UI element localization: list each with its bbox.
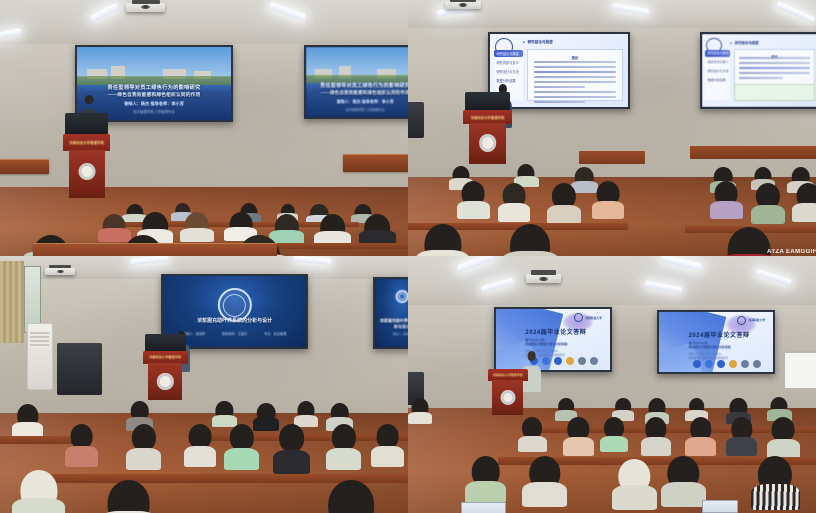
projection-screen-right: 浓浆服充助叶养系统的分析与设计 答辩人：张雨婷 bbox=[373, 277, 408, 349]
slide-campus-title-copy: 责任型领导对员工绿色行为的影响研究 ——绿色自我效能感和绿色组织认同的作用 答辩… bbox=[306, 47, 408, 117]
audience-tablet bbox=[702, 500, 739, 513]
slide-title: 2024届毕业论文答辩 bbox=[525, 327, 603, 336]
audience-member bbox=[563, 417, 594, 455]
projector bbox=[45, 268, 76, 276]
university-name: 河南科技大学 bbox=[748, 318, 765, 322]
slide-nav-selected: 研究结论与展望 bbox=[496, 51, 521, 56]
audience-member bbox=[518, 417, 547, 452]
slide-title: 责任型领导对员工绿色行为的影响研究 bbox=[90, 85, 219, 92]
audience-member bbox=[224, 424, 259, 470]
ceiling bbox=[0, 0, 408, 44]
audience-member bbox=[767, 417, 800, 458]
lecture-room: 浓浆服充助叶养系统的分析与设计 答辩人：张雨婷 指导老师：王建华 专业：信息管理… bbox=[0, 256, 408, 513]
audience-member bbox=[326, 424, 361, 470]
slide-meta: 答辩人：杨杰 指导老师：李小芳 bbox=[93, 101, 215, 107]
front-desk bbox=[33, 243, 278, 256]
slide-nav-item: 研究背景与意义 bbox=[708, 60, 729, 64]
slide-meta-major: 专业：信息管理 bbox=[264, 331, 286, 336]
audience-member-cap bbox=[612, 459, 657, 510]
slide-nav-item: 数据分析结果 bbox=[496, 78, 521, 83]
slide-body-text-lines bbox=[739, 57, 809, 82]
audience-laptop bbox=[461, 502, 506, 513]
shirt-text: ATZA EAMGGIF bbox=[767, 249, 816, 255]
slide-title: 浓浆服充助叶养系统的分析与设计 bbox=[172, 317, 298, 324]
audience-member bbox=[498, 183, 531, 222]
projector bbox=[526, 274, 561, 283]
slide-meta-secondary: 经济管理学院 工商管理专业 bbox=[93, 109, 215, 114]
window-curtain bbox=[0, 261, 24, 343]
photo-panel-top-left: 责任型领导对员工绿色行为的影响研究 ——绿色自我效能感和绿色组织认同的作用 答辩… bbox=[0, 0, 408, 256]
projection-screen-left: 责任型领导对员工绿色行为的影响研究 ——绿色自我效能感和绿色组织认同的作用 答辩… bbox=[75, 45, 232, 122]
audience-member bbox=[600, 417, 629, 452]
audience-member bbox=[522, 456, 567, 507]
audience-member bbox=[371, 424, 404, 467]
audience-member bbox=[408, 398, 432, 423]
audience-member bbox=[547, 183, 582, 225]
lecture-room: 研究结论与展望 研究结论与展望 研究背景与意义 研究设计与方法 数据分析结果 结… bbox=[408, 0, 816, 256]
audience-member bbox=[318, 480, 383, 513]
audience-member bbox=[98, 480, 159, 513]
slide-subtitle: 基于Python的 网络爬虫与数据可视化分析系统 bbox=[525, 338, 603, 346]
slide-nav-item: 研究设计与方法 bbox=[496, 69, 521, 74]
photo-panel-top-right: 研究结论与展望 研究结论与展望 研究背景与意义 研究设计与方法 数据分析结果 结… bbox=[408, 0, 816, 256]
projection-screen-right: 研究结论与展望 研究结论与展望 研究背景与意义 研究设计与方法 数据分析结果 结… bbox=[700, 32, 816, 109]
photo-panel-bottom-right: 河南科技大学 2024届毕业论文答辩 基于Python的 网络爬虫与数据可视化分… bbox=[408, 256, 816, 513]
slide-nav-item: 研究背景与意义 bbox=[496, 60, 521, 65]
presenter-laptop bbox=[465, 92, 510, 110]
audience-member bbox=[416, 224, 469, 256]
slide-meta-advisor: 指导老师：王建华 bbox=[222, 331, 248, 336]
slide-title: 2024届毕业论文答辩 bbox=[689, 330, 767, 339]
audience-member bbox=[314, 214, 351, 247]
slide-subtitle: 基于Python的 网络爬虫与数据可视化分析系统 bbox=[689, 341, 767, 349]
audience-member bbox=[661, 456, 706, 507]
slide-campus-title: 责任型领导对员工绿色行为的影响研究 ——绿色自我效能感和绿色组织认同的作用 答辩… bbox=[77, 47, 230, 120]
slide-title: 浓浆服充助叶养系统的分析与设计 bbox=[378, 318, 408, 330]
audience-member bbox=[184, 424, 217, 467]
audience-member bbox=[457, 181, 490, 218]
photo-panel-bottom-left: 浓浆服充助叶养系统的分析与设计 答辩人：张雨婷 指导老师：王建华 专业：信息管理… bbox=[0, 256, 408, 513]
audience-member bbox=[726, 417, 757, 455]
slide-subtitle: ——绿色自我效能感和绿色组织认同的作用 bbox=[90, 92, 219, 98]
university-logo: 河南科技大学 bbox=[737, 316, 765, 325]
projector bbox=[445, 1, 482, 9]
slide-meta: 答辩人：杨杰 指导老师：李小芳 bbox=[318, 99, 408, 105]
lecture-room: 责任型领导对员工绿色行为的影响研究 ——绿色自我效能感和绿色组织认同的作用 答辩… bbox=[0, 0, 408, 256]
university-logo-icon bbox=[737, 316, 746, 325]
slide-green-callout bbox=[734, 84, 816, 101]
lecture-room: 河南科技大学 2024届毕业论文答辩 基于Python的 网络爬虫与数据可视化分… bbox=[408, 256, 816, 513]
audience-member bbox=[792, 183, 816, 222]
slide-meta-presenter: 答辩人：张雨婷 bbox=[393, 332, 408, 336]
audience-member bbox=[273, 424, 310, 473]
university-logo-icon bbox=[574, 313, 583, 322]
audience-member bbox=[12, 404, 43, 437]
audience-member bbox=[751, 183, 786, 225]
audience-member bbox=[592, 181, 625, 218]
audience-member bbox=[502, 224, 559, 256]
audience-member bbox=[641, 417, 672, 455]
audience-member bbox=[710, 181, 743, 218]
audience-member bbox=[465, 456, 506, 504]
projector bbox=[126, 3, 165, 12]
audience-member-striped bbox=[751, 456, 800, 510]
projection-screen-right: 责任型领导对员工绿色行为的影响研究 ——绿色自我效能感和绿色组织认同的作用 答辩… bbox=[304, 45, 408, 119]
slide-meta: 答辩人：张雨婷 指导老师：王建华 专业：信息管理 bbox=[175, 331, 295, 336]
slide-header: 研究结论与展望 bbox=[730, 40, 758, 45]
slide-nav-item: 研究设计与方法 bbox=[708, 69, 729, 73]
slide-meta-secondary: 经济管理学院 工商管理专业 bbox=[318, 107, 408, 112]
slide-document-outline-copy: 研究结论与展望 研究结论与展望 研究背景与意义 研究设计与方法 数据分析结果 结… bbox=[702, 34, 816, 107]
audience-member bbox=[65, 424, 98, 467]
slide-body-title: 结论 bbox=[534, 55, 617, 60]
presenter-laptop bbox=[65, 113, 108, 135]
slide-meta: 答辩人：张雨婷 bbox=[380, 332, 408, 336]
audience-member bbox=[685, 417, 716, 455]
slide-body-text-lines bbox=[534, 61, 617, 106]
audience-member bbox=[180, 212, 215, 241]
audience-member bbox=[359, 214, 396, 245]
photo-collage: 责任型领导对员工绿色行为的影响研究 ——绿色自我效能感和绿色组织认同的作用 答辩… bbox=[0, 0, 816, 513]
audience-member-cap bbox=[12, 470, 65, 513]
university-logo: 河南科技大学 bbox=[574, 313, 602, 322]
slide-header: 研究结论与展望 bbox=[523, 40, 553, 45]
audience-member bbox=[126, 424, 161, 470]
slide-emblem-title-copy: 浓浆服充助叶养系统的分析与设计 答辩人：张雨婷 bbox=[375, 279, 408, 347]
slide-subtitle: ——绿色自我效能感和绿色组织认同的作用 bbox=[315, 90, 408, 96]
slide-nav-selected: 研究结论与展望 bbox=[708, 51, 729, 55]
university-name: 河南科技大学 bbox=[585, 316, 602, 320]
slide-nav-item: 数据分析结果 bbox=[708, 78, 729, 82]
